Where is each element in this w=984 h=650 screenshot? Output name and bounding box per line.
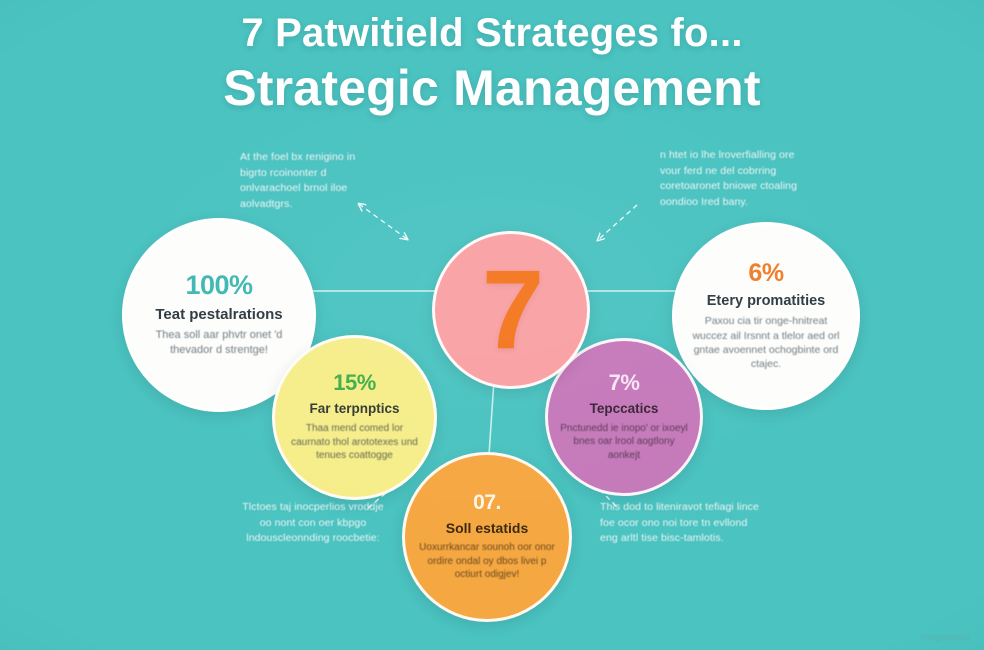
- annotation-top-right: n htet io lhe lroverfialling ore vour fe…: [660, 148, 810, 210]
- node-yellow-body: Thaa mend comed lor caurnato thol arotot…: [289, 422, 421, 463]
- node-purple-stat: 7%: [609, 372, 640, 394]
- title-line-2: Strategic Management: [0, 58, 984, 118]
- node-left-stat: 100%: [185, 272, 252, 299]
- annotation-top-left: At the foel bx renigino in bigrto rcoino…: [240, 150, 380, 212]
- node-left-headline: Teat pestalrations: [155, 306, 282, 323]
- center-number: 7: [482, 254, 540, 366]
- node-right-headline: Etery promatities: [707, 293, 825, 310]
- node-right-stat: 6%: [748, 261, 783, 286]
- annotation-bottom-right: This dod to liteniravot tefiagi lince fo…: [600, 500, 760, 547]
- node-orange-headline: Soll estatids: [446, 520, 528, 536]
- node-circle-right[interactable]: 6% Etery promatities Paxou cia tir onge-…: [672, 222, 860, 410]
- title-line-1: 7 Patwitield Strateges fo...: [0, 8, 984, 58]
- arrow-top-right: [598, 205, 637, 240]
- infographic-canvas: 7 Patwitield Strateges fo... Strategic M…: [0, 0, 984, 650]
- node-circle-center[interactable]: 7: [432, 231, 590, 389]
- node-purple-body: Pnctunedd ie inopo' or ixoeyl bnes oar l…: [560, 422, 688, 463]
- annotation-bottom-left: Tlctoes taj inocperlios vroddje oo nont …: [238, 500, 388, 547]
- node-circle-yellow[interactable]: 15% Far terpnptics Thaa mend comed lor c…: [272, 335, 437, 500]
- node-purple-headline: Tepccatics: [590, 401, 659, 417]
- node-right-body: Paxou cia tir onge-hnitreat wuccez ail I…: [690, 314, 842, 371]
- node-circle-orange[interactable]: 07. Soll estatids Uoxurrkancar sounoh oo…: [402, 452, 572, 622]
- node-orange-stat: 07.: [473, 492, 501, 513]
- node-yellow-stat: 15%: [333, 372, 376, 394]
- node-yellow-headline: Far terpnptics: [309, 401, 399, 417]
- node-orange-body: Uoxurrkancar sounoh oor onor ordire onda…: [419, 541, 555, 582]
- node-left-body: Thea soll aar phvtr onet 'd thevador d s…: [144, 328, 294, 358]
- watermark: infographics: [921, 633, 970, 642]
- title-block: 7 Patwitield Strateges fo... Strategic M…: [0, 8, 984, 118]
